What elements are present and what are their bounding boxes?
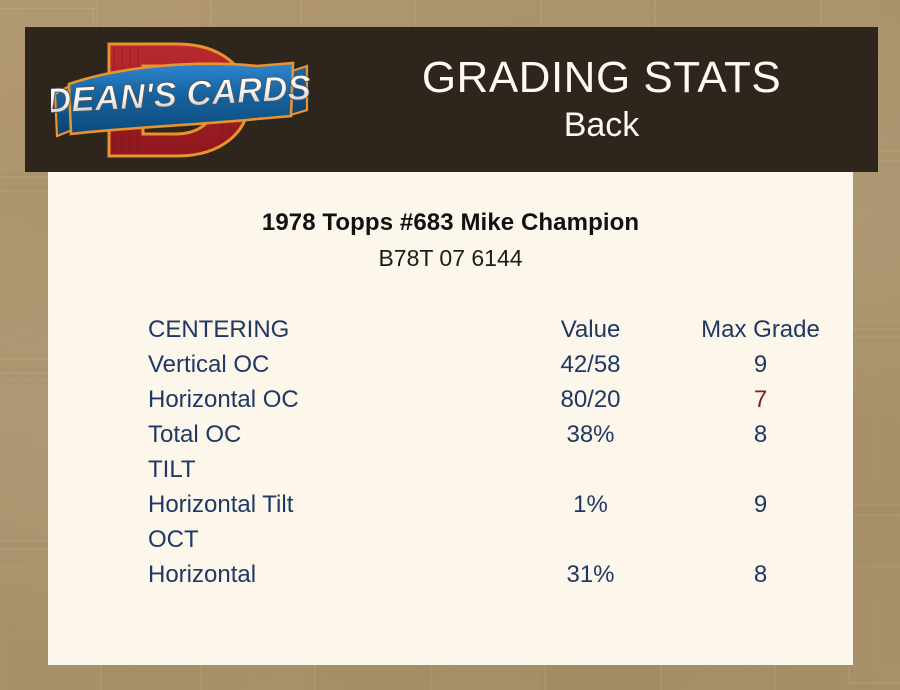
stat-max-grade-flagged: 7 bbox=[673, 382, 848, 417]
table-row: Horizontal Tilt1%9 bbox=[148, 487, 848, 522]
table-row: Horizontal OC80/207 bbox=[148, 382, 848, 417]
stat-label: Total OC bbox=[148, 417, 508, 452]
stat-label: Horizontal Tilt bbox=[148, 487, 508, 522]
stat-label: Horizontal bbox=[148, 557, 508, 592]
page-subtitle: Back bbox=[564, 106, 640, 145]
stat-value: 42/58 bbox=[508, 347, 673, 382]
stat-value: 1% bbox=[508, 487, 673, 522]
stat-label: Vertical OC bbox=[148, 347, 508, 382]
stat-section-label: OCT bbox=[148, 522, 508, 557]
card-serial-number: B78T 07 6144 bbox=[48, 245, 853, 272]
card-title: 1978 Topps #683 Mike Champion bbox=[48, 209, 853, 237]
section-header-row: TILT bbox=[148, 452, 848, 487]
stat-value: 80/20 bbox=[508, 382, 673, 417]
header-header-row: CENTERINGValueMax Grade bbox=[148, 312, 848, 347]
table-row: Vertical OC42/589 bbox=[148, 347, 848, 382]
stat-max-grade: 8 bbox=[673, 557, 848, 592]
header-bar: DEAN'S CARDS GRADING STATS Back bbox=[25, 27, 878, 172]
column-header-value: Value bbox=[508, 312, 673, 347]
stat-value bbox=[508, 522, 673, 557]
stat-max-grade: 8 bbox=[673, 417, 848, 452]
stat-section-label: CENTERING bbox=[148, 312, 508, 347]
background-card bbox=[848, 514, 900, 684]
table-row: Horizontal31%8 bbox=[148, 557, 848, 592]
deans-cards-logo[interactable]: DEAN'S CARDS bbox=[51, 32, 313, 168]
stat-max-grade: 9 bbox=[673, 347, 848, 382]
page-title: GRADING STATS bbox=[422, 54, 781, 102]
content-panel: 1978 Topps #683 Mike Champion B78T 07 61… bbox=[48, 172, 853, 665]
stat-max-grade bbox=[673, 452, 848, 487]
grading-stats-table: CENTERINGValueMax GradeVertical OC42/589… bbox=[148, 312, 848, 592]
stat-value: 38% bbox=[508, 417, 673, 452]
header-title-group: GRADING STATS Back bbox=[325, 27, 878, 172]
stat-max-grade: 9 bbox=[673, 487, 848, 522]
stat-value bbox=[508, 452, 673, 487]
column-header-max-grade: Max Grade bbox=[673, 312, 848, 347]
stat-max-grade bbox=[673, 522, 848, 557]
grading-stats-body: CENTERINGValueMax GradeVertical OC42/589… bbox=[148, 312, 848, 592]
stat-label: Horizontal OC bbox=[148, 382, 508, 417]
stat-section-label: TILT bbox=[148, 452, 508, 487]
table-row: Total OC38%8 bbox=[148, 417, 848, 452]
section-header-row: OCT bbox=[148, 522, 848, 557]
grading-stats-page: DEAN'S CARDS GRADING STATS Back 1978 Top… bbox=[0, 0, 900, 690]
stat-value: 31% bbox=[508, 557, 673, 592]
